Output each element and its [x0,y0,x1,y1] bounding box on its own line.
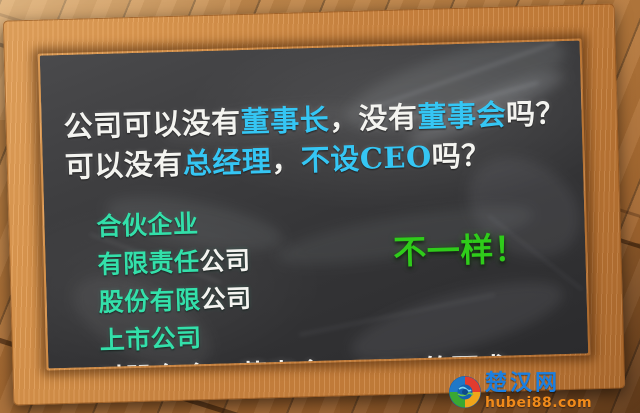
watermark: 楚汉网 hubei88.com [448,373,592,410]
question-1-seg-4: 董事会 [417,98,506,134]
question-1-seg-2: 董事长 [240,103,329,139]
entity-4-seg-1: 上市公司 [99,323,202,355]
watermark-site-url: hubei88.com [485,396,592,410]
question-2-seg-2: 总经理 [182,144,271,180]
question-1-seg-1: 公司可以没有 [63,105,241,144]
entity-3-seg-1: 股份有限 [98,285,201,317]
watermark-text: 楚汉网 hubei88.com [485,373,592,410]
chalkboard-surface: 公司可以没有董事长，没有董事会吗？ 可以没有总经理，不设CEO吗？ 合伙企业 有… [40,41,589,369]
entity-2-seg-2: 公司 [199,246,251,276]
watermark-site-name: 楚汉网 [485,373,592,395]
question-2-seg-4: 不设CEO [300,140,432,178]
entity-list-item-2: 有限责任公司 [97,248,251,277]
blackboard-assembly: 公司可以没有董事长，没有董事会吗？ 可以没有总经理，不设CEO吗？ 合伙企业 有… [3,4,626,406]
entity-2-seg-1: 有限责任 [97,247,200,279]
entity-list-item-4: 上市公司 [99,325,202,353]
question-2-seg-1: 可以没有 [64,147,183,184]
question-2-seg-5: 吗？ [431,138,491,174]
swirl-globe-logo-icon [448,375,482,409]
question-line-2: 可以没有总经理，不设CEO吗？ [64,141,491,182]
entity-1-seg-1: 合伙企业 [96,209,199,241]
entity-list-item-1: 合伙企业 [96,211,199,239]
question-line-1: 公司可以没有董事长，没有董事会吗？ [63,99,565,142]
slide-image: 公司可以没有董事长，没有董事会吗？ 可以没有总经理，不设CEO吗？ 合伙企业 有… [0,0,640,413]
callout-text: 不一样！ [393,232,528,269]
entity-list-item-3: 股份有限公司 [98,286,252,315]
question-2-seg-3: ， [271,143,301,178]
question-1-seg-3: ，没有 [329,100,418,136]
entity-3-seg-2: 公司 [200,284,252,314]
question-1-seg-5: 吗？ [506,96,566,132]
